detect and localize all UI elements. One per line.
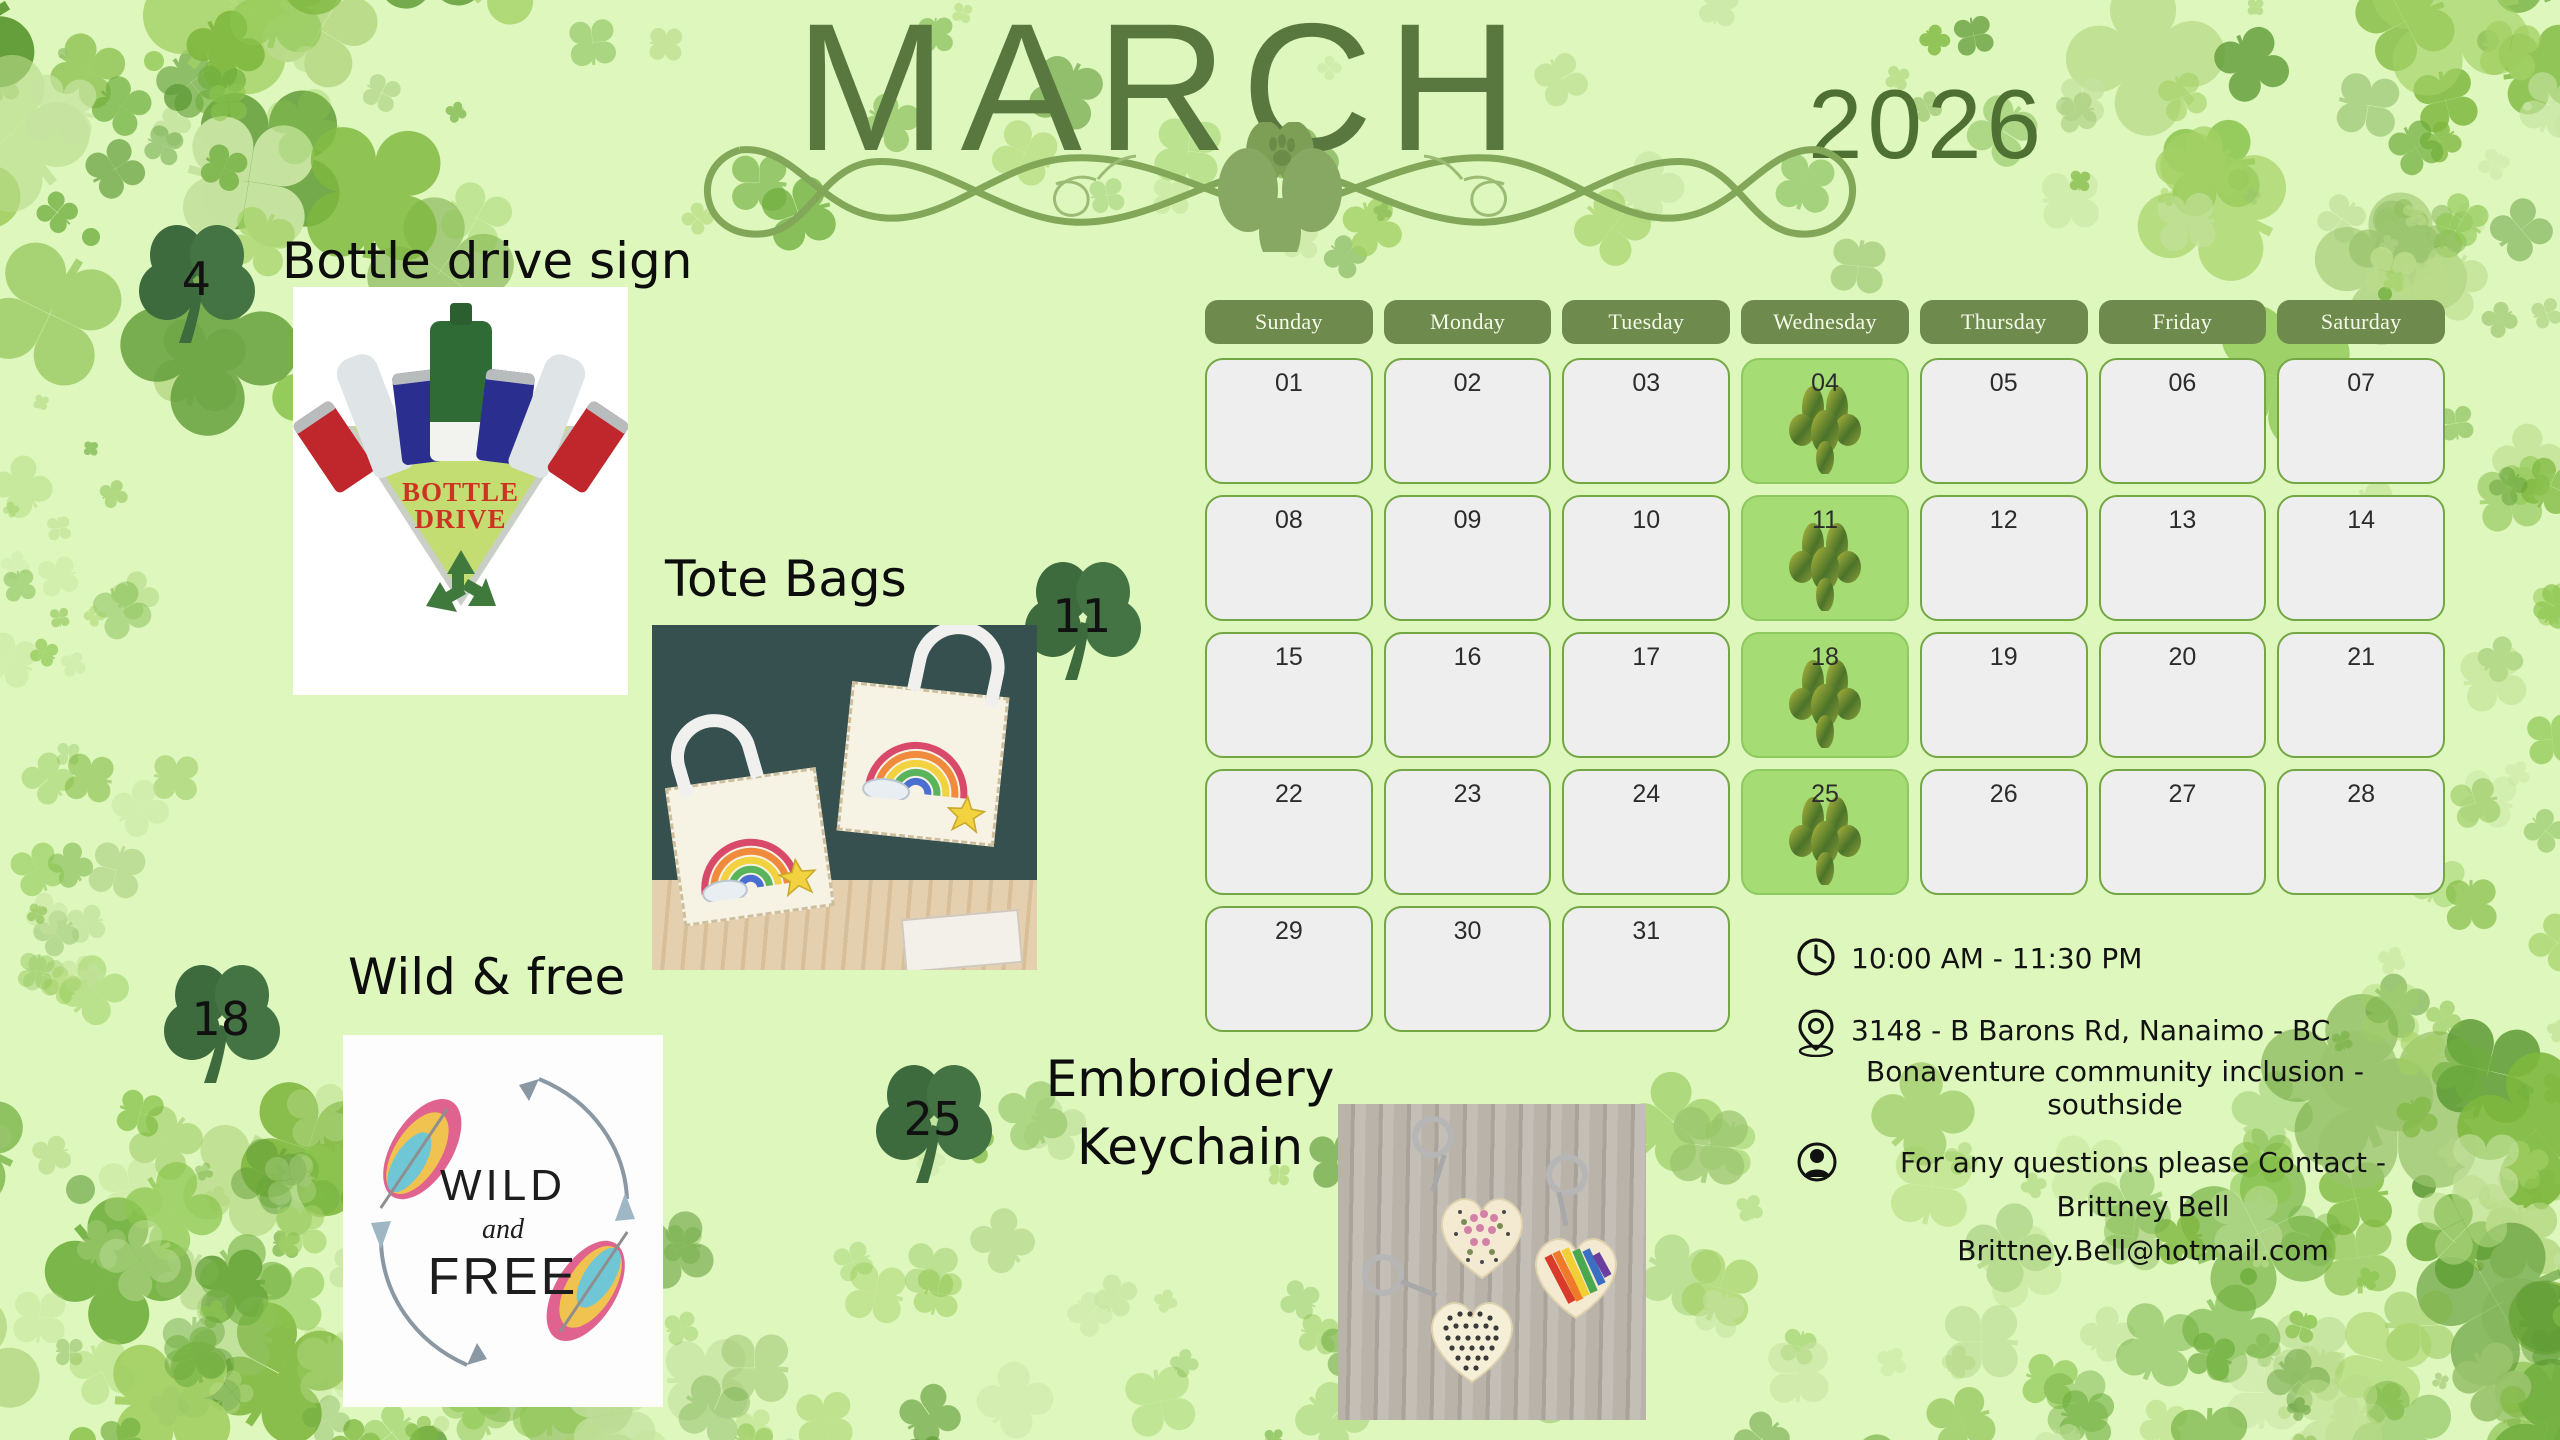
- day-number: 05: [1922, 369, 2086, 398]
- clover-icon: [952, 1380, 1038, 1440]
- clover-icon: [2512, 1153, 2557, 1198]
- hours-text: 10:00 AM - 11:30 PM: [1851, 935, 2142, 979]
- clover-icon: [1158, 1296, 1183, 1321]
- contact-line1: For any questions please Contact -: [1851, 1139, 2435, 1183]
- clover-icon: [81, 1420, 127, 1440]
- day-cell-11[interactable]: 11: [1741, 495, 1909, 621]
- clover-icon: [737, 1426, 766, 1440]
- clover-icon: [288, 1377, 342, 1431]
- clover-icon: [2457, 1417, 2560, 1440]
- day-badge-number: 4: [182, 252, 211, 306]
- clover-icon: [1770, 1373, 1829, 1432]
- clover-icon: [2382, 1379, 2424, 1421]
- clover-icon: [66, 1236, 120, 1290]
- clover-icon: [908, 1290, 959, 1341]
- clover-icon: [242, 1106, 326, 1190]
- clover-icon: [10, 543, 43, 576]
- clover-icon: [2350, 1293, 2419, 1362]
- clover-icon: [259, 1230, 286, 1257]
- event-info-block: 10:00 AM - 11:30 PM 3148 - B Barons Rd, …: [1795, 935, 2435, 1296]
- keyring-bottom-left: [1362, 1254, 1404, 1296]
- clover-icon: [40, 642, 71, 673]
- day-badge-25: 25: [872, 1055, 996, 1187]
- clover-icon: [1704, 1092, 1762, 1150]
- clover-icon: [554, 1426, 630, 1440]
- tote-bag-left: [665, 767, 835, 927]
- clover-icon: [57, 855, 107, 905]
- clover-icon: [2521, 1078, 2539, 1096]
- clover-icon: [2493, 1303, 2560, 1429]
- day-number: 04: [1743, 369, 1907, 398]
- clover-icon: [2529, 1272, 2560, 1330]
- clover-icon: [210, 1293, 241, 1324]
- clover-icon: [228, 1296, 316, 1384]
- clover-icon: [86, 955, 114, 983]
- clover-icon: [0, 1406, 1, 1440]
- clover-icon: [267, 1321, 332, 1386]
- day-number: 13: [2101, 506, 2265, 535]
- clover-icon: [2506, 794, 2556, 844]
- clover-icon: [2321, 1352, 2423, 1440]
- clover-icon: [288, 1152, 340, 1204]
- clover-icon: [1669, 1280, 1751, 1362]
- floral-flourish-divider-icon: [700, 122, 1860, 256]
- clover-icon: [13, 905, 60, 952]
- clover-icon: [2490, 1157, 2543, 1210]
- activity-title-wild-and-free: Wild & free: [348, 948, 625, 1006]
- day-number: 25: [1743, 780, 1907, 809]
- clover-icon: [2493, 1335, 2560, 1440]
- day-cell-28[interactable]: 28: [2277, 769, 2445, 895]
- clover-icon: [75, 597, 99, 621]
- day-cell-03[interactable]: 03: [1562, 358, 1730, 484]
- clover-icon: [2061, 1320, 2123, 1382]
- poster-heading: BOTTLE DRIVE: [293, 479, 628, 533]
- clover-icon: [2540, 1418, 2560, 1440]
- poster-line-free: FREE: [343, 1247, 663, 1307]
- tote-bags-photo: [652, 625, 1037, 970]
- clover-icon: [313, 1433, 371, 1440]
- clover-icon: [2280, 1388, 2307, 1415]
- contact-line2: Brittney Bell: [1851, 1183, 2435, 1227]
- day-cell-12[interactable]: 12: [1920, 495, 2088, 621]
- clover-icon: [739, 1424, 778, 1440]
- clover-icon: [2544, 925, 2560, 990]
- clover-icon: [2047, 1401, 2112, 1440]
- clover-dot: [311, 1187, 326, 1202]
- clover-icon: [2508, 476, 2560, 538]
- clover-icon: [2033, 1387, 2088, 1440]
- day-number: 22: [1207, 780, 1371, 809]
- day-number: 03: [1564, 369, 1728, 398]
- day-cell-16[interactable]: 16: [1384, 632, 1552, 758]
- clover-dot: [2278, 1406, 2291, 1419]
- activity-title-bottle-drive: Bottle drive sign: [282, 232, 692, 290]
- activity-title-embroidery-keychain: Embroidery Keychain: [1020, 1046, 1360, 1181]
- day-number: 08: [1207, 506, 1371, 535]
- clover-icon: [2545, 1089, 2560, 1119]
- day-number: 19: [1922, 643, 2086, 672]
- wild-and-free-poster-image: WILD and FREE: [343, 1035, 663, 1407]
- clover-icon: [1294, 1285, 1336, 1327]
- day-number: 16: [1386, 643, 1550, 672]
- day-cell-08[interactable]: 08: [1205, 495, 1373, 621]
- embroidery-keychain-photo: [1338, 1104, 1646, 1420]
- clover-icon: [1739, 1205, 1767, 1233]
- clover-icon: [55, 1310, 127, 1382]
- clover-icon: [46, 505, 70, 529]
- clover-icon: [2473, 1280, 2560, 1371]
- clover-icon: [2502, 751, 2528, 777]
- day-cell-14[interactable]: 14: [2277, 495, 2445, 621]
- clover-icon: [187, 1165, 207, 1185]
- clover-icon: [255, 1295, 320, 1360]
- clover-icon: [2531, 903, 2560, 983]
- day-number: 02: [1386, 369, 1550, 398]
- weekday-header-sunday: Sunday: [1205, 300, 1373, 344]
- clover-icon: [163, 1316, 236, 1389]
- contact-email[interactable]: Brittney.Bell@hotmail.com: [1851, 1227, 2435, 1271]
- poster-heading-line1: BOTTLE: [293, 479, 628, 506]
- clover-icon: [143, 358, 238, 453]
- clover-icon: [2510, 439, 2560, 519]
- clover-icon: [227, 1243, 303, 1319]
- clover-icon: [759, 1409, 858, 1440]
- clover-icon: [2496, 453, 2539, 496]
- clover-dot: [2502, 1391, 2522, 1411]
- clover-icon: [1701, 1268, 1754, 1321]
- clover-icon: [2437, 1375, 2456, 1394]
- clover-icon: [2486, 1405, 2522, 1440]
- activity-title-tote-bags: Tote Bags: [665, 550, 907, 608]
- day-cell-09[interactable]: 09: [1384, 495, 1552, 621]
- clover-icon: [1746, 1390, 1810, 1440]
- clover-icon: [2169, 1369, 2248, 1440]
- clover-icon: [2549, 1328, 2560, 1365]
- weekday-header-tuesday: Tuesday: [1562, 300, 1730, 344]
- clover-dot: [69, 1427, 96, 1440]
- clover-icon: [872, 1267, 935, 1330]
- day-number: 31: [1564, 917, 1728, 946]
- heart-keychain-rainbow: [1524, 1222, 1628, 1326]
- weekday-header-thursday: Thursday: [1920, 300, 2088, 344]
- clover-icon: [2430, 1310, 2518, 1398]
- keyring-top-right: [1546, 1154, 1588, 1196]
- clover-icon: [415, 1407, 452, 1440]
- clover-icon: [1929, 1352, 1967, 1390]
- day-badge-4: 4: [135, 215, 259, 347]
- clover-icon: [866, 1408, 950, 1440]
- clover-dot: [434, 1416, 450, 1432]
- clover-icon: [2102, 1335, 2191, 1424]
- clover-icon: [2460, 645, 2511, 696]
- clover-icon: [231, 1119, 325, 1213]
- clover-icon: [2335, 1419, 2441, 1440]
- clover-icon: [34, 765, 93, 824]
- clover-icon: [2140, 1434, 2178, 1440]
- day-number: 28: [2279, 780, 2443, 809]
- map-pin-icon: [1795, 1007, 1837, 1053]
- clock-icon: [1795, 935, 1837, 981]
- clover-icon: [1856, 1425, 1943, 1440]
- clover-icon: [95, 1082, 145, 1132]
- clover-icon: [899, 1267, 954, 1322]
- weekday-header-monday: Monday: [1384, 300, 1552, 344]
- clover-icon: [2546, 1352, 2560, 1440]
- clover-icon: [132, 756, 175, 799]
- clover-dot: [2554, 1251, 2560, 1271]
- day-cell-21[interactable]: 21: [2277, 632, 2445, 758]
- day-number: 10: [1564, 506, 1728, 535]
- day-cell-05[interactable]: 05: [1920, 358, 2088, 484]
- clover-icon: [2546, 1158, 2560, 1359]
- day-cell-04[interactable]: 04: [1741, 358, 1909, 484]
- clover-icon: [546, 1403, 606, 1440]
- craft-kit-box: [901, 909, 1023, 970]
- day-cell-19[interactable]: 19: [1920, 632, 2088, 758]
- clover-icon: [127, 1151, 193, 1217]
- clover-icon: [42, 1339, 69, 1366]
- clover-icon: [2481, 1167, 2558, 1244]
- clover-icon: [77, 557, 141, 621]
- clover-icon: [164, 1219, 234, 1289]
- clover-icon: [94, 816, 154, 876]
- clover-icon: [0, 1097, 77, 1226]
- clover-icon: [1051, 1275, 1101, 1325]
- clover-icon: [2255, 1341, 2294, 1380]
- day-cell-25[interactable]: 25: [1741, 769, 1909, 895]
- bottle-drive-poster-image: BOTTLE DRIVE: [293, 287, 628, 695]
- clover-icon: [2517, 302, 2550, 335]
- clover-dot: [2474, 1261, 2484, 1271]
- chain-top-right: [1557, 1192, 1569, 1226]
- clover-icon: [283, 1143, 312, 1172]
- clover-icon: [57, 1346, 173, 1440]
- day-cell-27[interactable]: 27: [2099, 769, 2267, 895]
- weekday-header-row: SundayMondayTuesdayWednesdayThursdayFrid…: [1205, 300, 2445, 344]
- address-row: 3148 - B Barons Rd, Nanaimo - BC Bonaven…: [1795, 1007, 2435, 1121]
- calendar-header: MARCH 2026: [0, 0, 2560, 260]
- day-number: 24: [1564, 780, 1728, 809]
- clover-icon: [172, 1351, 237, 1416]
- month-calendar: SundayMondayTuesdayWednesdayThursdayFrid…: [1205, 300, 2445, 1032]
- clover-icon: [57, 641, 84, 668]
- clover-icon: [29, 894, 51, 916]
- clover-icon: [54, 551, 96, 593]
- day-number: 06: [2101, 369, 2265, 398]
- clover-icon: [7, 505, 24, 522]
- day-cell-26[interactable]: 26: [1920, 769, 2088, 895]
- day-number: 27: [2101, 780, 2265, 809]
- hours-row: 10:00 AM - 11:30 PM: [1795, 935, 2435, 981]
- day-cell-13[interactable]: 13: [2099, 495, 2267, 621]
- clover-dot: [2378, 287, 2392, 301]
- day-number: 26: [1922, 780, 2086, 809]
- address-line2: Bonaventure community inclusion - souths…: [1795, 1055, 2435, 1121]
- heart-keychain-blank: [1420, 1284, 1524, 1390]
- clover-icon: [88, 789, 152, 853]
- clover-icon: [875, 1395, 944, 1440]
- clover-icon: [17, 861, 76, 920]
- clover-icon: [194, 1190, 222, 1218]
- clover-icon: [2423, 1063, 2533, 1173]
- clover-icon: [46, 897, 97, 948]
- clover-icon: [13, 1317, 64, 1368]
- contact-row: For any questions please Contact - Britt…: [1795, 1139, 2435, 1270]
- day-number: 17: [1564, 643, 1728, 672]
- clover-icon: [2024, 1400, 2083, 1440]
- clover-icon: [174, 1349, 330, 1440]
- clover-icon: [681, 1227, 720, 1266]
- clover-icon: [46, 1128, 88, 1170]
- day-number: 29: [1207, 917, 1371, 946]
- day-cell-07[interactable]: 07: [2277, 358, 2445, 484]
- clover-icon: [1086, 1289, 1132, 1335]
- clover-dot: [66, 1175, 95, 1204]
- day-number: 21: [2279, 643, 2443, 672]
- clover-icon: [2508, 473, 2560, 527]
- day-number: 11: [1743, 506, 1907, 535]
- clover-icon: [1982, 1305, 2053, 1376]
- day-cell-23[interactable]: 23: [1384, 769, 1552, 895]
- clover-icon: [758, 1419, 800, 1440]
- clover-icon: [65, 970, 104, 1009]
- clover-icon: [2393, 271, 2416, 294]
- clover-icon: [2227, 1394, 2300, 1440]
- clover-icon: [2536, 602, 2560, 646]
- clover-icon: [1665, 1144, 1744, 1223]
- day-number: 30: [1386, 917, 1550, 946]
- day-cell-06[interactable]: 06: [2099, 358, 2267, 484]
- day-cell-18[interactable]: 18: [1741, 632, 1909, 758]
- activity-title-line1: Embroidery: [1046, 1050, 1335, 1108]
- clover-icon: [799, 1419, 855, 1440]
- clover-icon: [1281, 1310, 1323, 1352]
- clover-icon: [87, 485, 118, 516]
- clover-icon: [1783, 1311, 1821, 1349]
- clover-icon: [2483, 775, 2543, 835]
- clover-icon: [2468, 1179, 2560, 1360]
- day-cell-17[interactable]: 17: [1562, 632, 1730, 758]
- clover-icon: [2470, 771, 2523, 824]
- poster-heading-line2: DRIVE: [293, 506, 628, 533]
- day-badge-18: 18: [160, 955, 284, 1087]
- clover-icon: [2455, 1179, 2526, 1250]
- poster-line-and: and: [343, 1214, 663, 1246]
- day-cell-31[interactable]: 31: [1562, 906, 1730, 1032]
- clover-icon: [2542, 1009, 2560, 1034]
- day-cell-15[interactable]: 15: [1205, 632, 1373, 758]
- clover-icon: [2132, 1418, 2182, 1440]
- clover-icon: [1997, 1347, 2055, 1405]
- clover-icon: [2, 639, 62, 699]
- clover-icon: [193, 1380, 242, 1429]
- heart-keychain-floral: [1430, 1182, 1534, 1286]
- day-cell-30[interactable]: 30: [1384, 906, 1552, 1032]
- clover-icon: [93, 1124, 203, 1234]
- clover-icon: [2491, 291, 2531, 331]
- day-number: 09: [1386, 506, 1550, 535]
- activity-title-line2: Keychain: [1077, 1118, 1303, 1176]
- clover-icon: [31, 401, 46, 416]
- clover-icon: [1160, 1354, 1192, 1386]
- keyring-top-left: [1412, 1116, 1454, 1158]
- clover-icon: [2447, 470, 2514, 537]
- clover-icon: [2551, 712, 2560, 762]
- clover-dot: [2500, 1386, 2526, 1412]
- clover-icon: [54, 973, 96, 1015]
- clover-icon: [2428, 1215, 2535, 1322]
- clover-icon: [713, 1417, 757, 1440]
- clover-icon: [2442, 422, 2477, 457]
- clover-icon: [2371, 1413, 2515, 1440]
- clover-icon: [133, 1394, 178, 1439]
- day-cell-20[interactable]: 20: [2099, 632, 2267, 758]
- clover-icon: [19, 935, 57, 973]
- tote-bag-right: [837, 681, 1010, 847]
- clover-icon: [2445, 855, 2495, 905]
- clover-icon: [2497, 1001, 2560, 1177]
- clover-icon: [1873, 1335, 1904, 1366]
- clover-icon: [37, 974, 115, 1052]
- day-cell-22[interactable]: 22: [1205, 769, 1373, 895]
- clover-icon: [2308, 1317, 2383, 1392]
- clover-icon: [924, 1433, 963, 1440]
- weekday-header-wednesday: Wednesday: [1741, 300, 1909, 344]
- clover-icon: [848, 1233, 891, 1276]
- day-cell-29[interactable]: 29: [1205, 906, 1373, 1032]
- clover-icon: [68, 744, 90, 766]
- clover-icon: [82, 899, 122, 939]
- day-number: 07: [2279, 369, 2443, 398]
- clover-icon: [2289, 1295, 2324, 1330]
- day-number: 20: [2101, 643, 2265, 672]
- clover-icon: [2283, 1412, 2369, 1440]
- clover-icon: [169, 1201, 272, 1304]
- day-number: 12: [1922, 506, 2086, 535]
- day-cell-01[interactable]: 01: [1205, 358, 1373, 484]
- clover-icon: [124, 1197, 215, 1288]
- clover-icon: [1118, 1334, 1191, 1407]
- clover-icon: [3, 472, 73, 542]
- day-number: 15: [1207, 643, 1371, 672]
- day-badge-number: 11: [1053, 589, 1112, 643]
- day-cell-02[interactable]: 02: [1384, 358, 1552, 484]
- day-cell-10[interactable]: 10: [1562, 495, 1730, 621]
- clover-icon: [161, 1285, 224, 1348]
- day-number: 18: [1743, 643, 1907, 672]
- clover-icon: [2244, 1328, 2316, 1400]
- weekday-header-friday: Friday: [2099, 300, 2267, 344]
- day-cell-24[interactable]: 24: [1562, 769, 1730, 895]
- day-badge-11: 11: [1021, 552, 1145, 684]
- clover-icon: [2517, 1400, 2560, 1440]
- clover-icon: [2303, 1436, 2328, 1440]
- clover-icon: [2441, 1011, 2510, 1080]
- clover-icon: [1218, 122, 1342, 252]
- clover-icon: [756, 1336, 821, 1401]
- poster-line-wild: WILD: [343, 1161, 663, 1211]
- clover-icon: [85, 436, 98, 449]
- clover-icon: [2448, 1154, 2547, 1253]
- clover-icon: [196, 1075, 316, 1195]
- clover-icon: [2454, 1168, 2517, 1231]
- day-badge-number: 25: [904, 1092, 963, 1146]
- clover-icon: [87, 756, 136, 805]
- weekday-header-saturday: Saturday: [2277, 300, 2445, 344]
- recycle-icon: [418, 544, 504, 630]
- clover-icon: [252, 1207, 303, 1258]
